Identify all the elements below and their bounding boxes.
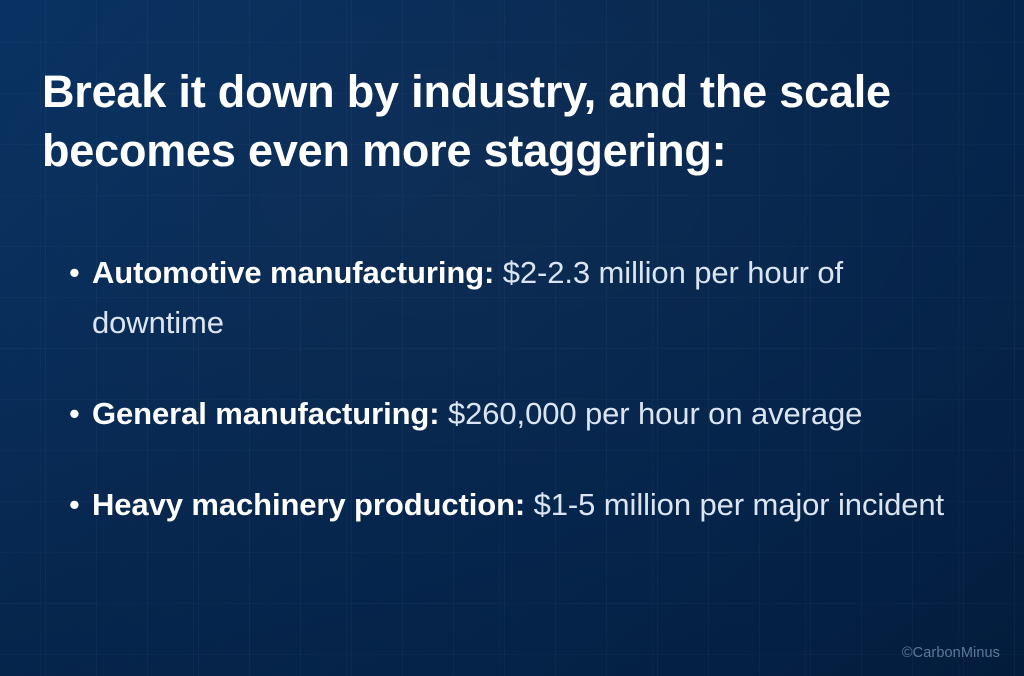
list-item-value: $1-5 million per major incident [525,487,944,522]
list-item-label: Heavy machinery production: [92,487,525,522]
list-item-value: $260,000 per hour on average [439,396,862,431]
slide-content: Break it down by industry, and the scale… [0,0,1024,676]
bullet-point-icon: • [69,389,80,439]
list-item-heavy-machinery-production: • Heavy machinery production: $1-5 milli… [66,480,971,530]
list-item-automotive-manufacturing: • Automotive manufacturing: $2-2.3 milli… [66,248,971,348]
slide-canvas: Break it down by industry, and the scale… [0,0,1024,676]
bullet-point-icon: • [69,480,80,530]
list-item-general-manufacturing: • General manufacturing: $260,000 per ho… [66,389,971,439]
list-item-label: Automotive manufacturing: [92,255,494,290]
list-item-label: General manufacturing: [92,396,439,431]
copyright-watermark: ©CarbonMinus [902,644,1000,662]
industry-cost-list: • Automotive manufacturing: $2-2.3 milli… [66,248,971,530]
bullet-point-icon: • [69,248,80,298]
slide-heading: Break it down by industry, and the scale… [42,62,992,180]
